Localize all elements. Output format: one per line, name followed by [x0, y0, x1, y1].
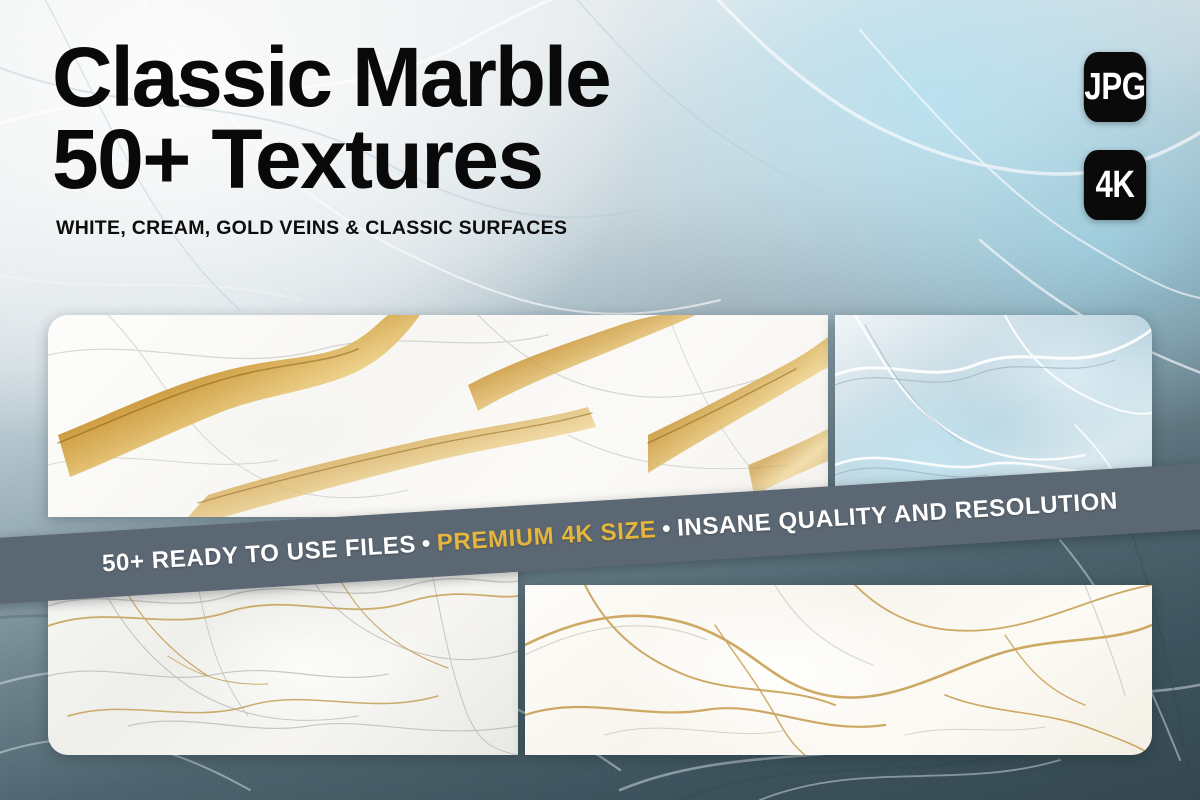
format-badge-label: JPG: [1084, 68, 1145, 106]
ribbon-segment-quality: INSANE QUALITY AND RESOLUTION: [676, 488, 1118, 542]
ribbon-separator-2: •: [655, 515, 678, 543]
resolution-badge[interactable]: 4K: [1084, 150, 1146, 220]
texture-veins: [525, 585, 1152, 755]
ribbon-separator-1: •: [415, 530, 438, 558]
texture-veins: [48, 315, 828, 517]
headline-block: Classic Marble 50+ Textures WHITE, CREAM…: [52, 36, 610, 240]
ribbon-segment-files: 50+ READY TO USE FILES: [101, 531, 416, 577]
format-badge[interactable]: JPG: [1084, 52, 1146, 122]
page-title-line-1: Classic Marble: [52, 36, 610, 118]
page-title-line-2: 50+ Textures: [52, 118, 610, 200]
texture-sample-top-left[interactable]: [48, 315, 828, 517]
ribbon-segment-premium: PREMIUM 4K SIZE: [436, 516, 657, 557]
poster-canvas: 50+ READY TO USE FILES•PREMIUM 4K SIZE•I…: [0, 0, 1200, 800]
badge-group: JPG 4K: [1077, 52, 1153, 220]
resolution-badge-label: 4K: [1095, 166, 1134, 204]
texture-sample-bottom-right[interactable]: [525, 585, 1152, 755]
page-subtitle: WHITE, CREAM, GOLD VEINS & CLASSIC SURFA…: [56, 217, 610, 240]
